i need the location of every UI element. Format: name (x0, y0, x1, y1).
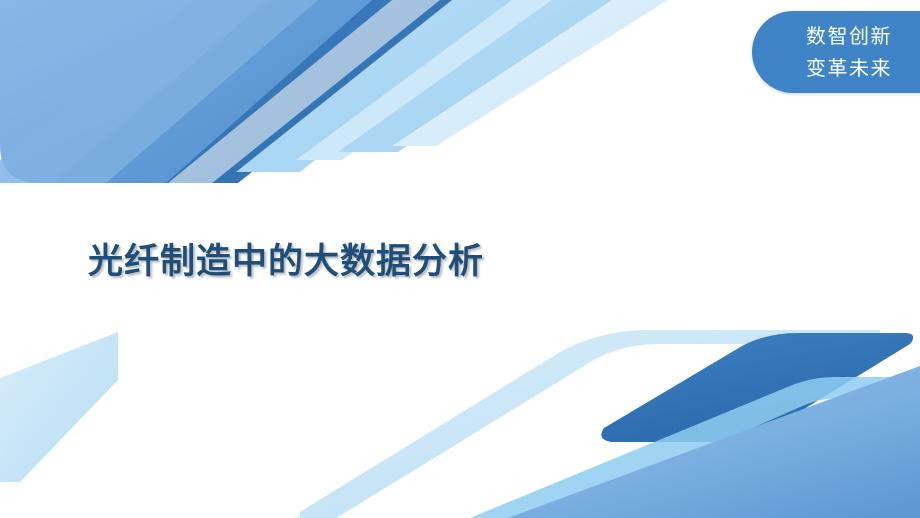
diagonal-stripe-band-dark-b (166, 0, 470, 183)
bottom-left-pale-band (150, 330, 880, 518)
diagonal-stripe-band-dark-a (106, 0, 404, 183)
page-title: 光纤制造中的大数据分析 (88, 233, 484, 284)
diagonal-stripe-band-medium-b (52, 0, 330, 183)
diagonal-stripe-band-pale-b (392, 0, 668, 146)
title-slide: 数智创新 变革未来 光纤制造中的大数据分析 (0, 0, 920, 518)
diagonal-stripe-band-medium-a (0, 0, 272, 183)
diagonal-stripe-group (0, 0, 668, 183)
bottom-right-dark-parallelogram (601, 333, 913, 442)
diagonal-stripe-band-light-b (296, 0, 560, 160)
top-left-rounded-panel (0, 0, 392, 183)
diagonal-stripe-band-light-a (236, 0, 520, 172)
bottom-right-blue-wedge (508, 366, 920, 518)
top-panel-highlight-curve (0, 0, 440, 202)
bottom-white-separator (0, 500, 300, 518)
badge-text: 数智创新 变革未来 (774, 20, 920, 84)
bottom-left-pale-chevron (0, 332, 118, 482)
bottom-right-light-band (350, 377, 920, 518)
corner-badge: 数智创新 变革未来 (752, 11, 920, 93)
diagonal-stripe-band-pale-a (338, 0, 620, 152)
